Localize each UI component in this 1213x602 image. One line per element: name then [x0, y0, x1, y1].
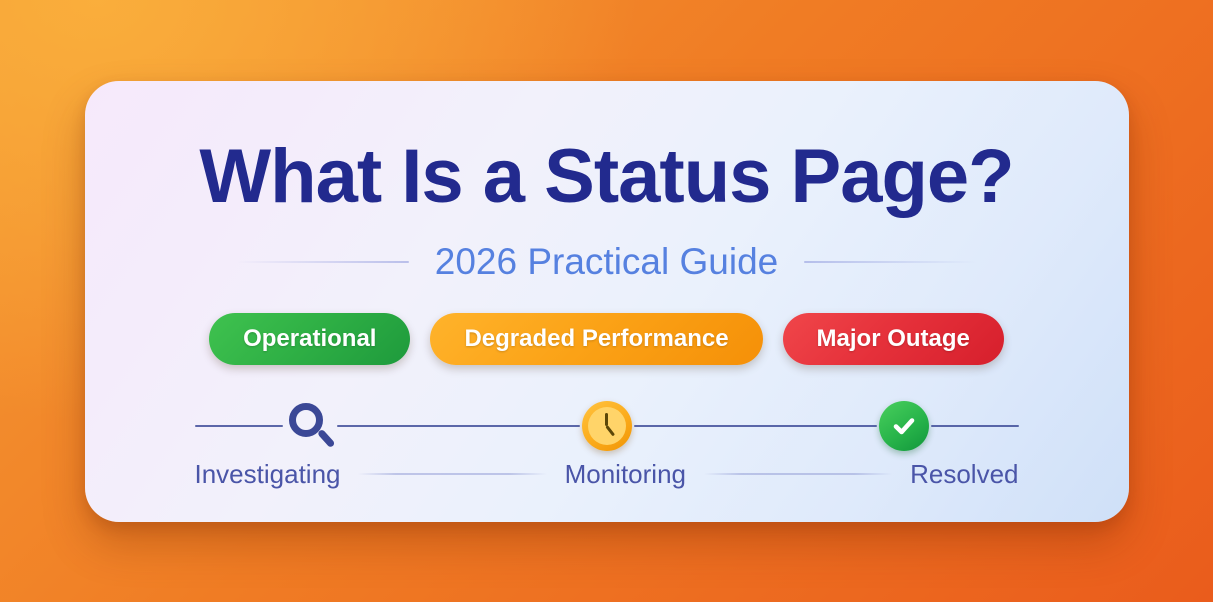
page-title: What Is a Status Page?	[199, 139, 1013, 215]
magnifier-icon	[287, 403, 333, 449]
timeline-label-resolved: Resolved	[910, 459, 1018, 490]
status-badge-operational[interactable]: Operational	[209, 313, 410, 365]
timeline-connector-2	[634, 425, 877, 427]
check-circle-icon	[879, 401, 929, 451]
timeline-label-investigating: Investigating	[195, 459, 341, 490]
timeline-label-monitoring: Monitoring	[565, 459, 686, 490]
timeline-label-connector-1	[358, 473, 546, 475]
status-badges: Operational Degraded Performance Major O…	[209, 313, 1004, 365]
timeline-connector-end	[931, 425, 1019, 427]
timeline-track	[195, 399, 1019, 453]
subtitle-rule-left	[237, 261, 409, 263]
timeline-node-resolved[interactable]	[877, 399, 931, 453]
timeline-connector-1	[337, 425, 580, 427]
timeline-label-connector-2	[704, 473, 892, 475]
timeline-node-investigating[interactable]	[283, 399, 337, 453]
timeline-labels: Investigating Monitoring Resolved	[195, 459, 1019, 490]
status-badge-degraded-performance[interactable]: Degraded Performance	[430, 313, 762, 365]
status-page-card: What Is a Status Page? 2026 Practical Gu…	[85, 81, 1129, 522]
timeline-node-monitoring[interactable]	[580, 399, 634, 453]
page-subtitle: 2026 Practical Guide	[435, 241, 778, 283]
incident-timeline: Investigating Monitoring Resolved	[195, 399, 1019, 490]
subtitle-row: 2026 Practical Guide	[237, 241, 977, 283]
subtitle-rule-right	[804, 261, 976, 263]
status-badge-major-outage[interactable]: Major Outage	[783, 313, 1004, 365]
clock-icon	[582, 401, 632, 451]
timeline-connector-start	[195, 425, 283, 427]
